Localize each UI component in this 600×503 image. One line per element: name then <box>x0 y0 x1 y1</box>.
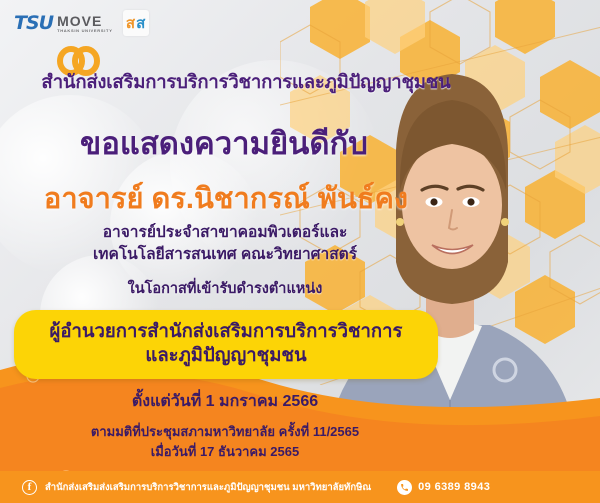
resolution-line-1: ตามมติที่ประชุมสภามหาวิทยาลัย ครั้งที่ 1… <box>0 422 450 442</box>
office-logo-char-right: ส <box>136 16 145 31</box>
position-line-1: ผู้อำนวยการสำนักส่งเสริมการบริการวิชาการ <box>28 319 424 343</box>
tsu-move-text: MOVE <box>57 14 113 28</box>
logo-bar: TSU MOVE THAKSIN UNIVERSITY ส ส <box>14 10 149 36</box>
effective-date: ตั้งแต่วันที่ 1 มกราคม 2566 <box>0 389 450 414</box>
content-layer: สำนักส่งเสริมการบริการวิชาการและภูมิปัญญ… <box>0 0 600 503</box>
office-logo-char-left: ส <box>126 16 135 31</box>
congratulation-banner: TSU MOVE THAKSIN UNIVERSITY ส ส สำนักส่ง… <box>0 0 600 503</box>
facebook-icon[interactable]: f <box>22 480 37 495</box>
tsu-move-logo: TSU MOVE THAKSIN UNIVERSITY <box>14 14 113 33</box>
phone-icon <box>397 480 412 495</box>
person-name: อาจารย์ ดร.นิชากรณ์ พันธ์คง <box>0 175 452 221</box>
tsu-subtitle-text: THAKSIN UNIVERSITY <box>57 29 113 33</box>
resolution-text: ตามมติที่ประชุมสภามหาวิทยาลัย ครั้งที่ 1… <box>0 422 450 461</box>
footer-phone-group: 09 6389 8943 <box>397 480 490 495</box>
affiliation-text: อาจารย์ประจำสาขาคอมพิวเตอร์และ เทคโนโลยี… <box>0 222 450 267</box>
resolution-line-2: เมื่อวันที่ 17 ธันวาคม 2565 <box>0 442 450 462</box>
organization-title: สำนักส่งเสริมการบริการวิชาการและภูมิปัญญ… <box>0 68 492 97</box>
office-logo: ส ส <box>123 10 149 36</box>
occasion-text: ในโอกาสที่เข้ารับดำรงตำแหน่ง <box>0 277 450 300</box>
position-line-2: และภูมิปัญญาชุมชน <box>28 343 424 367</box>
congratulation-heading: ขอแสดงความยินดีกับ <box>0 118 448 168</box>
position-highlight-box: ผู้อำนวยการสำนักส่งเสริมการบริการวิชาการ… <box>14 310 438 379</box>
affiliation-line-2: เทคโนโลยีสารสนเทศ คณะวิทยาศาสตร์ <box>0 244 450 266</box>
tsu-mark-text: TSU <box>14 14 53 33</box>
affiliation-line-1: อาจารย์ประจำสาขาคอมพิวเตอร์และ <box>0 222 450 244</box>
footer-organization-text: สำนักส่งเสริมส่งเสริมการบริการวิชาการและ… <box>45 480 371 495</box>
footer-phone-number: 09 6389 8943 <box>418 481 490 493</box>
footer-bar: f สำนักส่งเสริมส่งเสริมการบริการวิชาการแ… <box>0 471 600 503</box>
